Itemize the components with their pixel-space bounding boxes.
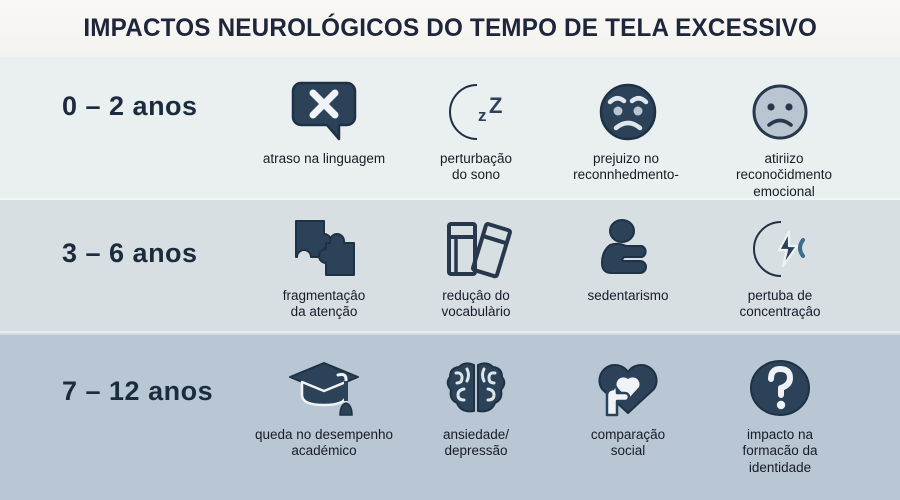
puzzle-pieces-icon: [288, 216, 360, 282]
items-0-2: atraso na linguagem z Z perturbação do s…: [248, 57, 900, 200]
item-impacto-identidade: impacto na formacão da identidade: [704, 333, 856, 476]
item-queda-desempenho: queda no desempenho académico: [248, 333, 400, 460]
age-band-3-6: 3 – 6 anos fragmentaçâo da atenção: [0, 200, 900, 333]
item-perturbacao-sono: z Z perturbação do sono: [400, 57, 552, 184]
item-reducao-vocabulario: reduçâo do vocabulàrio: [400, 200, 552, 321]
item-label: impacto na formacão da identidade: [700, 427, 860, 476]
moon-zzz-icon: z Z: [440, 79, 512, 145]
brain-icon: [440, 355, 512, 421]
worried-face-icon: [592, 79, 664, 145]
item-label: reduçâo do vocabulàrio: [396, 288, 556, 321]
heart-thumbs-up-icon: [592, 355, 664, 421]
item-reconhecimento-emocional: atiriizo reconočidmento emocional: [704, 57, 856, 200]
item-atraso-linguagem: atraso na linguagem: [248, 57, 400, 167]
item-label: comparação social: [548, 427, 708, 460]
item-label: fragmentaçâo da atenção: [244, 288, 404, 321]
item-fragmentacao-atencao: fragmentaçâo da atenção: [248, 200, 400, 321]
age-label-7-12: 7 – 12 anos: [0, 333, 248, 407]
items-7-12: queda no desempenho académico: [248, 333, 900, 476]
items-3-6: fragmentaçâo da atenção reduçâo do vocab…: [248, 200, 900, 321]
header-band: IMPACTOS NEUROLÓGICOS DO TEMPO DE TELA E…: [0, 0, 900, 57]
graduation-cap-icon: [288, 355, 360, 421]
item-comparacao-social: comparação social: [552, 333, 704, 460]
infographic-root: IMPACTOS NEUROLÓGICOS DO TEMPO DE TELA E…: [0, 0, 900, 500]
question-mark-circle-icon: [744, 355, 816, 421]
item-label: ansiedade/ depressão: [396, 427, 556, 460]
age-band-0-2: 0 – 2 anos atraso na linguagem z Z: [0, 57, 900, 200]
item-label: atraso na linguagem: [244, 151, 404, 167]
item-prejuizo-reconhecimento: prejuizo no reconnhedmento-: [552, 57, 704, 184]
item-label: sedentarismo: [548, 288, 708, 304]
item-sedentarismo: sedentarismo: [552, 200, 704, 304]
item-label: pertuba de concentraçâo: [700, 288, 860, 321]
speech-bubble-x-icon: [288, 79, 360, 145]
age-label-0-2: 0 – 2 anos: [0, 57, 248, 122]
item-pertuba-concentracao: pertuba de concentraçâo: [704, 200, 856, 321]
item-label: perturbação do sono: [396, 151, 556, 184]
moon-lightning-icon: [744, 216, 816, 282]
sad-face-icon: [744, 79, 816, 145]
item-label: atiriizo reconočidmento emocional: [686, 151, 882, 200]
books-icon: [440, 216, 512, 282]
page-title: IMPACTOS NEUROLÓGICOS DO TEMPO DE TELA E…: [83, 14, 817, 43]
svg-text:z: z: [478, 106, 487, 125]
item-label: queda no desempenho académico: [230, 427, 418, 460]
item-ansiedade-depressao: ansiedade/ depressão: [400, 333, 552, 460]
sitting-person-icon: [592, 216, 664, 282]
age-band-7-12: 7 – 12 anos queda no desempenho académic…: [0, 333, 900, 500]
svg-text:Z: Z: [489, 93, 502, 118]
age-label-3-6: 3 – 6 anos: [0, 200, 248, 269]
